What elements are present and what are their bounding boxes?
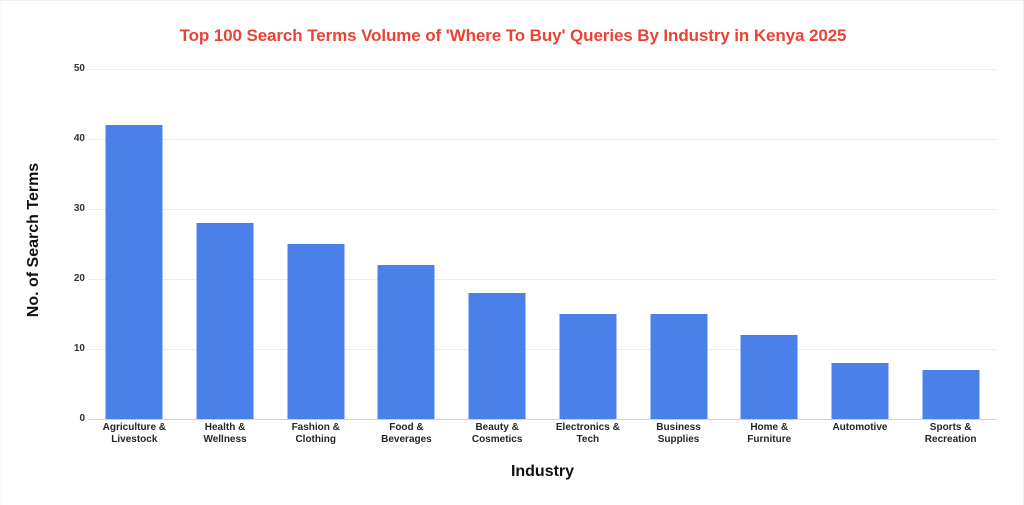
x-axis-tick-label-line: Home & [724,422,815,434]
x-axis-tick-label: BusinessSupplies [633,422,724,445]
x-axis-tick-label-line: Health & [180,422,271,434]
bar[interactable] [197,223,254,419]
bar[interactable] [741,335,798,419]
bar-band [543,69,634,419]
x-axis-tick-label-line: Electronics & [543,422,634,434]
x-axis-tick-label: Home &Furniture [724,422,815,445]
bar-band [905,69,996,419]
x-axis-tick-label: Health &Wellness [180,422,271,445]
x-axis-tick-label-line: Supplies [633,434,724,446]
bar[interactable] [469,293,526,419]
x-axis-title: Industry [89,463,996,481]
x-axis-tick-label-line: Business [633,422,724,434]
y-axis-tick-label: 40 [45,133,85,144]
x-axis-tick-label-line: Agriculture & [89,422,180,434]
y-axis-tick-label: 20 [45,273,85,284]
x-axis-tick-label-line: Cosmetics [452,434,543,446]
x-axis-tick-label: Electronics &Tech [543,422,634,445]
bar-band [633,69,724,419]
x-axis-tick-label-line: Wellness [180,434,271,446]
x-axis-tick-label-line: Recreation [905,434,996,446]
bar[interactable] [559,314,616,419]
x-axis-tick-label: Beauty &Cosmetics [452,422,543,445]
bar-band [270,69,361,419]
x-axis-tick-label: Food &Beverages [361,422,452,445]
chart-title: Top 100 Search Terms Volume of 'Where To… [1,26,1024,46]
x-axis-tick-label: Agriculture &Livestock [89,422,180,445]
x-axis-tick-label-line: Food & [361,422,452,434]
x-axis-tick-label-line: Fashion & [270,422,361,434]
gridline [89,419,996,420]
x-axis-tick-label-line: Automotive [815,422,906,434]
y-axis-tick-label: 10 [45,343,85,354]
x-axis-tick-label-line: Clothing [270,434,361,446]
bar-band [180,69,271,419]
y-axis-title: No. of Search Terms [25,125,43,355]
bar[interactable] [106,125,163,419]
x-axis-tick-label-line: Tech [543,434,634,446]
x-axis-tick-label-line: Beverages [361,434,452,446]
x-axis-tick-label-line: Livestock [89,434,180,446]
x-axis-tick-labels: Agriculture &LivestockHealth &WellnessFa… [89,422,996,454]
y-axis-tick-label: 30 [45,203,85,214]
x-axis-tick-label: Fashion &Clothing [270,422,361,445]
x-axis-tick-label-line: Furniture [724,434,815,446]
bar[interactable] [287,244,344,419]
chart-figure: Top 100 Search Terms Volume of 'Where To… [0,0,1024,505]
bar-band [361,69,452,419]
bar[interactable] [378,265,435,419]
x-axis-tick-label-line: Sports & [905,422,996,434]
x-axis-tick-label: Sports &Recreation [905,422,996,445]
bar-band [724,69,815,419]
bar-band [452,69,543,419]
y-axis-tick-label: 50 [45,63,85,74]
bar[interactable] [922,370,979,419]
bar-band [815,69,906,419]
x-axis-tick-label: Automotive [815,422,906,434]
bar[interactable] [831,363,888,419]
bar-series [89,69,996,419]
y-axis-tick-label: 0 [45,413,85,424]
bar[interactable] [650,314,707,419]
x-axis-tick-label-line: Beauty & [452,422,543,434]
bar-band [89,69,180,419]
